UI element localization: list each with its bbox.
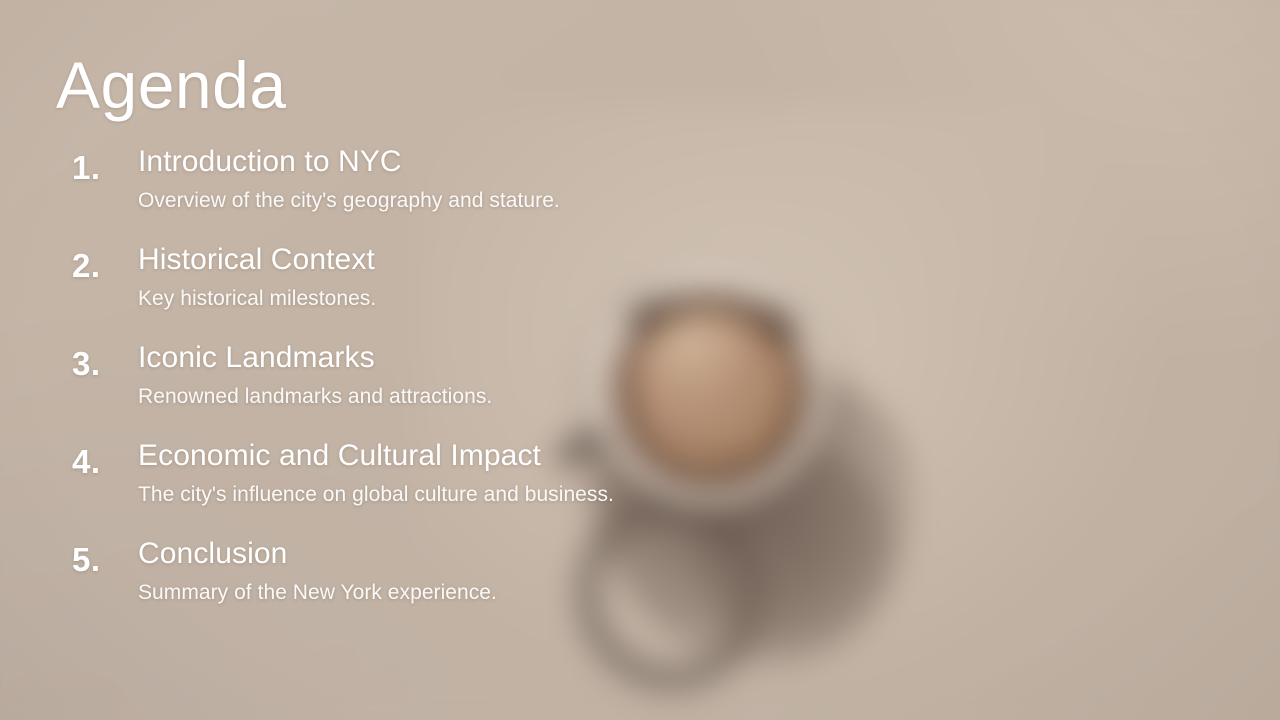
list-item-number: 5. — [72, 541, 128, 579]
list-item[interactable]: 3. Iconic Landmarks Renowned landmarks a… — [60, 341, 760, 437]
list-item[interactable]: 4. Economic and Cultural Impact The city… — [60, 439, 760, 535]
list-item[interactable]: 2. Historical Context Key historical mil… — [60, 243, 760, 339]
list-item-description: Renowned landmarks and attractions. — [138, 384, 760, 409]
list-item-number: 4. — [72, 443, 128, 481]
page-title: Agenda — [56, 52, 287, 118]
list-item-description: The city's influence on global culture a… — [138, 482, 760, 507]
list-item-number: 2. — [72, 247, 128, 285]
list-item-number: 1. — [72, 149, 128, 187]
list-item-title: Historical Context — [138, 243, 760, 278]
list-item[interactable]: 1. Introduction to NYC Overview of the c… — [60, 145, 760, 241]
list-item-description: Overview of the city's geography and sta… — [138, 188, 760, 213]
list-item[interactable]: 5. Conclusion Summary of the New York ex… — [60, 537, 760, 633]
slide-content: Agenda 1. Introduction to NYC Overview o… — [0, 0, 1280, 720]
list-item-title: Conclusion — [138, 537, 760, 572]
list-item-description: Key historical milestones. — [138, 286, 760, 311]
list-item-number: 3. — [72, 345, 128, 383]
list-item-title: Iconic Landmarks — [138, 341, 760, 376]
presentation-slide: Agenda 1. Introduction to NYC Overview o… — [0, 0, 1280, 720]
list-item-title: Introduction to NYC — [138, 145, 760, 180]
agenda-list: 1. Introduction to NYC Overview of the c… — [60, 145, 760, 635]
list-item-title: Economic and Cultural Impact — [138, 439, 760, 474]
list-item-description: Summary of the New York experience. — [138, 580, 760, 605]
